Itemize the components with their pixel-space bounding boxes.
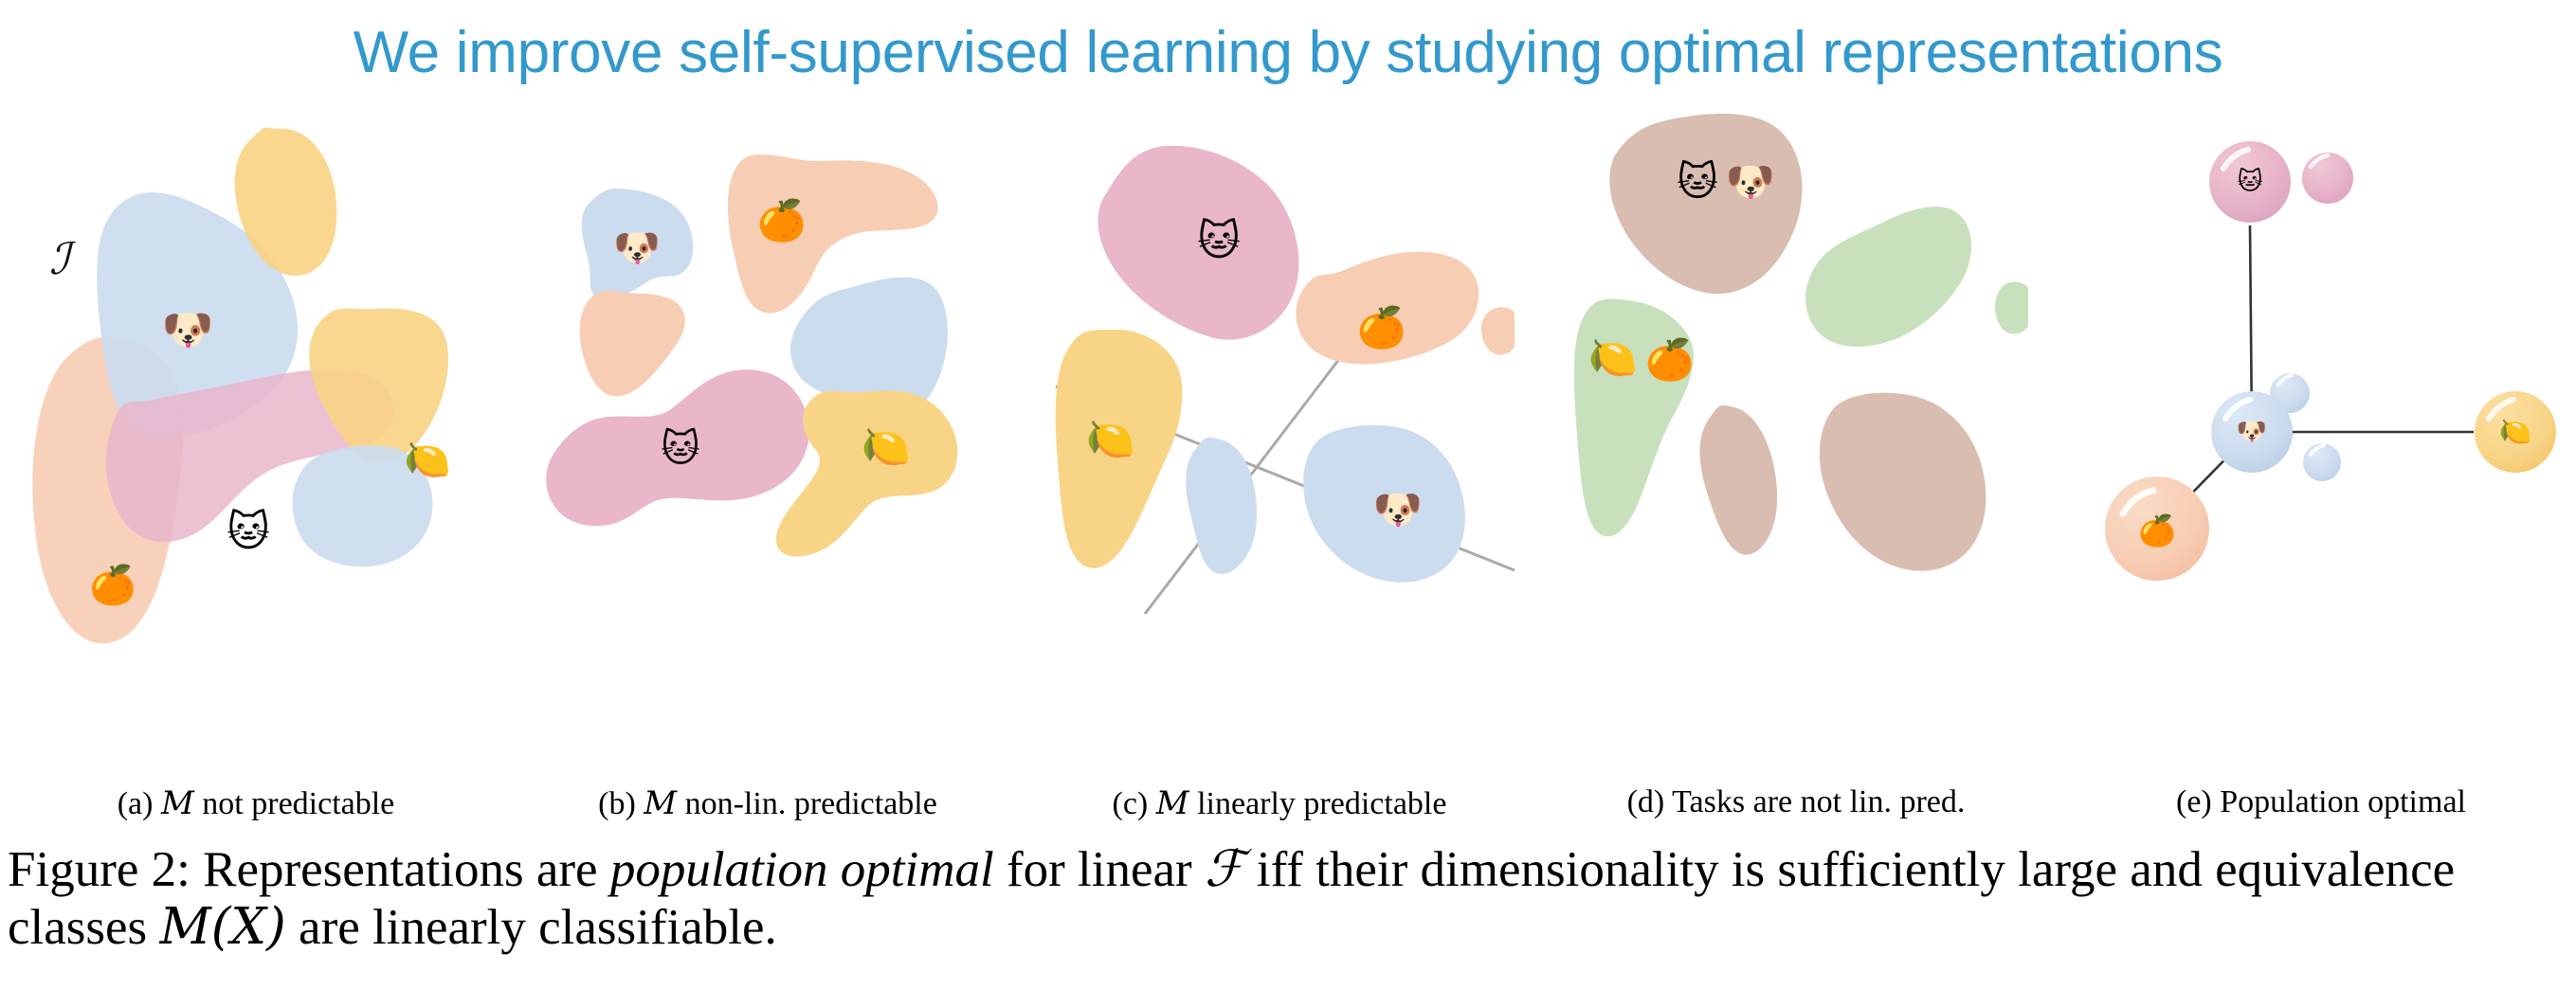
subcaption-c-text: linearly predictable	[1197, 786, 1446, 821]
figure-caption-line1-c: iff their dimensionality is sufficiently	[1257, 842, 2005, 897]
figure-caption-label: Figure 2:	[8, 842, 190, 897]
tangerine-icon: 🍊	[89, 566, 136, 604]
dog-icon: 🐶	[1373, 490, 1423, 530]
blob-yellow-lemon-b	[776, 390, 957, 556]
panel-b-nonlin-predictable: 🐶 🍊 🐱 🍋	[531, 114, 1005, 758]
figure-2-graphic: ℐ 🐶 🐱 🍋 🍊	[0, 114, 2576, 777]
panel-e-population-optimal: 🐱 🐶 🍋 🍊	[2066, 114, 2576, 758]
blob-green-crescent-d	[1805, 207, 1971, 347]
subcaption-e-prefix: (e)	[2176, 784, 2212, 819]
figure-caption-line2-b: are linearly classifiable.	[299, 900, 777, 955]
subcaption-b-symbol: M	[644, 784, 677, 822]
tangerine-icon: 🍊	[757, 201, 807, 241]
panel-a-not-predictable: 🐶 🐱 🍋 🍊	[0, 114, 512, 758]
lemon-icon: 🍋	[862, 427, 911, 467]
panel-d-tasks-not-lin-pred: 🐱 🐶 🍋 🍊	[1564, 114, 2028, 758]
tangerine-icon: 🍊	[1645, 340, 1695, 380]
subcaption-d: (d) Tasks are not lin. pred.	[1564, 784, 2028, 820]
tangerine-icon: 🍊	[1357, 308, 1406, 348]
figure-caption-line1-symbol: ℱ	[1205, 840, 1244, 898]
tangerine-icon: 🍊	[2138, 515, 2176, 546]
figure-caption-line1-italic: population optimal	[610, 842, 994, 897]
cat-icon: 🐱	[661, 430, 700, 468]
subcaption-b-text: non-lin. predictable	[685, 786, 937, 821]
subcaption-b: (b) M non-lin. predictable	[531, 784, 1005, 822]
satellite-blue-lower	[2303, 443, 2341, 481]
cat-icon: 🐱	[1197, 221, 1241, 262]
subcaption-d-text: Tasks are not lin. pred.	[1672, 784, 1965, 819]
blob-blue-small-c	[1186, 438, 1257, 574]
subcaption-row: (a) M not predictable (b) M non-lin. pre…	[0, 784, 2576, 830]
subcaption-e-text: Population optimal	[2220, 784, 2466, 819]
dog-icon: 🐶	[2237, 420, 2267, 444]
subcaption-a-text: not predictable	[202, 786, 394, 821]
lemon-icon: 🍋	[404, 441, 451, 479]
blob-peach-sliver-c	[1481, 307, 1515, 354]
cat-icon: 🐱	[227, 512, 270, 553]
blob-brown-small-d	[1700, 405, 1778, 555]
lemon-icon: 🍋	[1086, 420, 1135, 459]
figure-caption-line1-a: Representations are	[203, 842, 597, 897]
figure-caption: Figure 2: Representations are population…	[8, 841, 2567, 957]
lemon-icon: 🍋	[1588, 338, 1638, 378]
subcaption-b-prefix: (b)	[598, 786, 636, 821]
figure-caption-line2-symbol: M(X)	[159, 898, 285, 956]
lemon-icon: 🍋	[2499, 419, 2532, 445]
blob-peach-small-b	[580, 291, 685, 396]
cat-icon: 🐱	[2237, 170, 2262, 194]
panel-a-svg	[0, 114, 512, 758]
subcaption-d-prefix: (d)	[1627, 784, 1665, 819]
subcaption-c-prefix: (c)	[1113, 786, 1149, 821]
figure-caption-line1-b: for linear	[1007, 842, 1192, 897]
dog-icon: 🐶	[1726, 162, 1775, 202]
subcaption-e: (e) Population optimal	[2066, 784, 2576, 820]
subcaption-a-prefix: (a)	[118, 786, 154, 821]
cat-icon: 🐱	[1677, 162, 1718, 202]
blob-green-sliver-d	[1995, 282, 2028, 334]
subcaption-c-symbol: M	[1156, 784, 1189, 822]
subcaption-a-symbol: M	[161, 784, 194, 822]
dog-icon: 🐶	[162, 310, 214, 351]
subcaption-c: (c) M linearly predictable	[1043, 784, 1516, 822]
subcaption-a: (a) M not predictable	[0, 784, 512, 822]
panel-c-linearly-predictable: 🐱 🍊 🍋 🐶	[1043, 114, 1516, 758]
blob-brown-large-d	[1820, 393, 1986, 571]
satellite-pink	[2302, 153, 2353, 204]
panel-d-svg	[1564, 114, 2028, 758]
page-title: We improve self-supervised learning by s…	[0, 19, 2576, 86]
dog-icon: 🐶	[613, 229, 661, 267]
